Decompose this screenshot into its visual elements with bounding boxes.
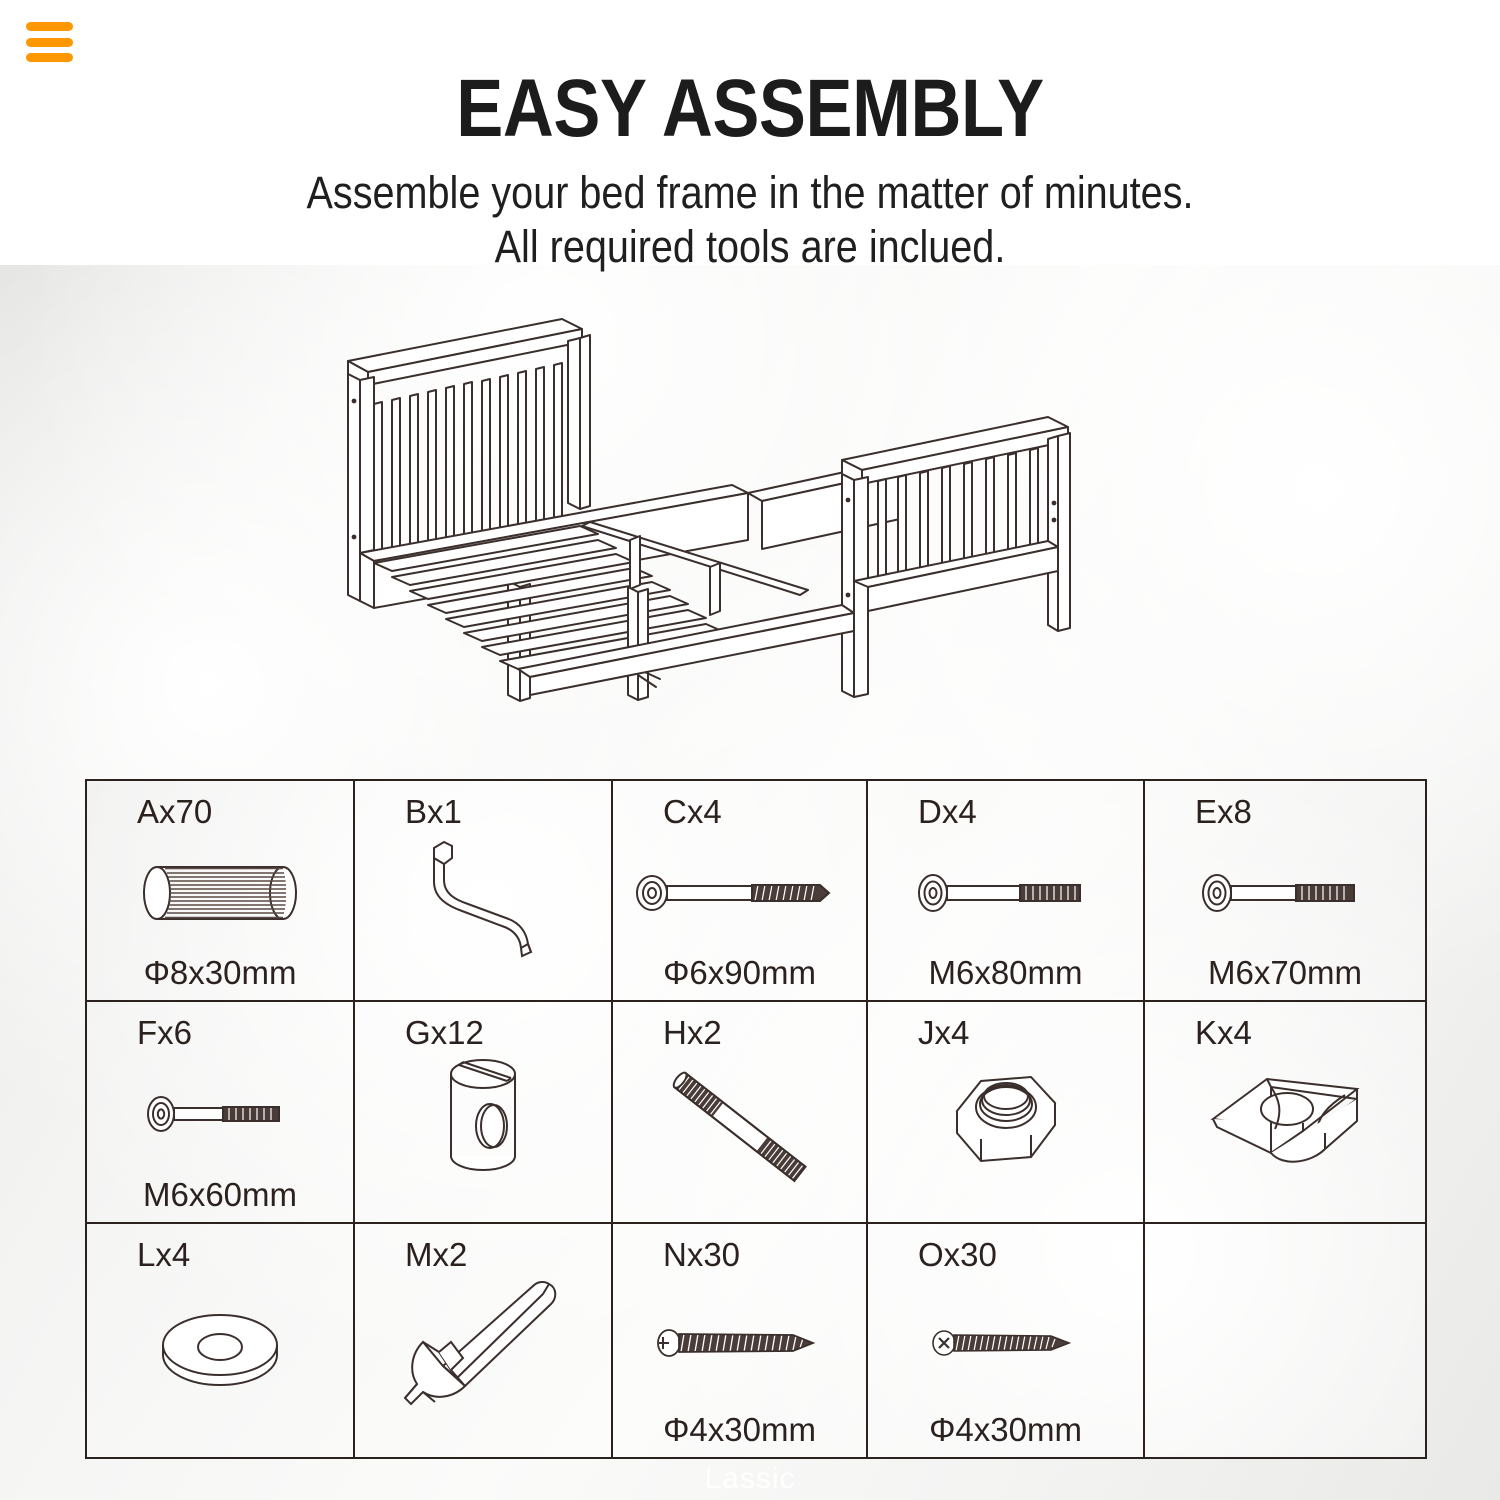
part-cell-h[interactable]: Hx2 [613,1002,868,1222]
hex-socket-bolt-icon [868,831,1143,954]
parts-row: Ax70 [87,781,1425,1002]
subtitle-line-2: All required tools are inclued. [90,220,1410,274]
hamburger-menu-icon[interactable] [26,22,73,62]
part-spec: Φ6x90mm [613,954,866,1000]
part-code: Cx4 [663,793,722,831]
part-spec: M6x80mm [868,954,1143,1000]
flat-washer-icon [87,1274,353,1419]
part-code: Nx30 [663,1236,740,1274]
part-spec: Φ4x30mm [613,1411,866,1457]
part-code: Ox30 [918,1236,997,1274]
hamburger-bar-2 [26,38,73,47]
open-end-wrench-icon [355,1274,611,1424]
part-spec: Φ4x30mm [868,1411,1143,1457]
empty-slot [1145,1236,1425,1419]
part-cell-n[interactable]: Nx30 [613,1224,868,1457]
wood-screw-icon [613,1274,866,1411]
part-cell-c[interactable]: Cx4 [613,781,868,1000]
part-code: Hx2 [663,1014,722,1052]
subtitle-line-1: Assemble your bed frame in the matter of… [90,166,1410,220]
hex-socket-bolt-icon [1145,831,1425,954]
part-code: Jx4 [918,1014,969,1052]
part-code: Bx1 [405,793,462,831]
hex-nut-icon [868,1052,1143,1184]
part-spec: M6x70mm [1145,954,1425,1000]
part-cell-l[interactable]: Lx4 [87,1224,355,1457]
part-code: Lx4 [137,1236,190,1274]
part-spec: M6x60mm [87,1176,353,1222]
long-bolt-icon [613,831,866,954]
part-code: Fx6 [137,1014,192,1052]
part-cell-empty [1145,1224,1425,1457]
part-cell-m[interactable]: Mx2 [355,1224,613,1457]
barrel-nut-icon [355,1052,611,1184]
hamburger-bar-1 [26,22,73,31]
part-code: Ax70 [137,793,212,831]
part-code: Ex8 [1195,793,1252,831]
parts-row: Fx6 [87,1002,1425,1224]
saddle-bracket-icon [1145,1052,1425,1184]
part-code: Mx2 [405,1236,467,1274]
part-spec: Φ8x30mm [87,954,353,1000]
assembly-infographic-page: EASY ASSEMBLY Assemble your bed frame in… [0,0,1500,1500]
header-band: EASY ASSEMBLY Assemble your bed frame in… [0,0,1500,265]
allen-key-icon [355,831,611,962]
part-code: Gx12 [405,1014,484,1052]
part-cell-a[interactable]: Ax70 [87,781,355,1000]
threaded-rod-icon [613,1052,866,1202]
part-code: Dx4 [918,793,977,831]
page-subtitle: Assemble your bed frame in the matter of… [90,166,1410,274]
part-cell-d[interactable]: Dx4 [868,781,1145,1000]
bed-frame-illustration [330,295,1170,765]
page-title: EASY ASSEMBLY [105,66,1395,152]
hex-socket-bolt-icon [87,1052,353,1176]
part-cell-j[interactable]: Jx4 [868,1002,1145,1222]
dowel-icon [87,831,353,954]
part-code: Kx4 [1195,1014,1252,1052]
part-cell-e[interactable]: Ex8 [1145,781,1425,1000]
parts-list-table: Ax70 [85,779,1427,1459]
phillips-screw-icon [868,1274,1143,1411]
part-cell-f[interactable]: Fx6 [87,1002,355,1222]
part-cell-g[interactable]: Gx12 [355,1002,613,1222]
part-cell-o[interactable]: Ox30 [868,1224,1145,1457]
part-cell-k[interactable]: Kx4 [1145,1002,1425,1222]
hamburger-bar-3 [26,53,73,62]
part-cell-b[interactable]: Bx1 [355,781,613,1000]
parts-row: Lx4 Mx2 [87,1224,1425,1457]
